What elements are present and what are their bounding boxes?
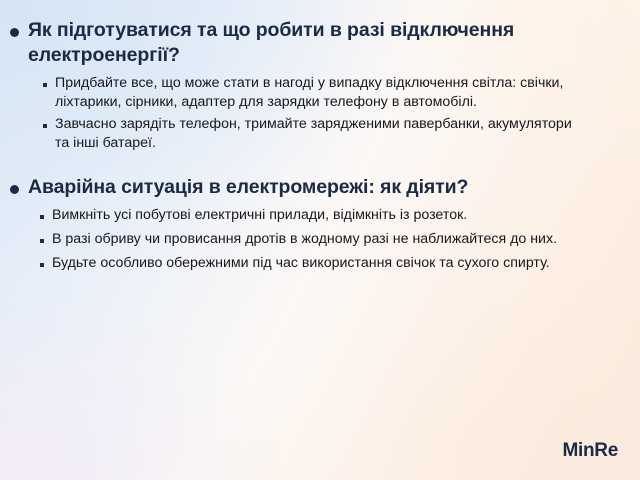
list-item-text: Придбайте все, що може стати в нагоді у …	[55, 74, 575, 112]
brand-logo: MinRe	[562, 440, 618, 462]
list-item-text: Будьте особливо обережними під час викор…	[52, 254, 550, 273]
slide-canvas: Як підготуватися та що робити в разі від…	[0, 0, 640, 480]
section-power-outage-preparation: Як підготуватися та що робити в разі від…	[10, 18, 618, 153]
list-item: Завчасно зарядіть телефон, тримайте заря…	[43, 115, 618, 153]
list-item: В разі обриву чи провисання дротів в жод…	[40, 230, 618, 249]
section-electrical-emergency: Аварійна ситуація в електромережі: як ді…	[10, 175, 618, 273]
list-item-text: Вимкніть усі побутові електричні прилади…	[52, 206, 467, 225]
list-item-text: В разі обриву чи провисання дротів в жод…	[52, 230, 557, 249]
section-title: Аварійна ситуація в електромережі: як ді…	[28, 175, 468, 200]
list-item: Придбайте все, що може стати в нагоді у …	[43, 74, 618, 112]
list-item-text: Завчасно зарядіть телефон, тримайте заря…	[55, 115, 575, 153]
bullet-list-preparation: Придбайте все, що може стати в нагоді у …	[43, 74, 618, 153]
page-title: Як підготуватися та що робити в разі від…	[28, 18, 528, 67]
square-bullet-icon	[40, 239, 44, 243]
list-item: Вимкніть усі побутові електричні прилади…	[40, 206, 618, 225]
square-bullet-icon	[43, 83, 47, 87]
square-bullet-icon	[40, 215, 44, 219]
section-heading-row: Аварійна ситуація в електромережі: як ді…	[10, 175, 618, 200]
round-bullet-icon	[10, 185, 19, 194]
bullet-list-emergency: Вимкніть усі побутові електричні прилади…	[40, 206, 618, 273]
round-bullet-icon	[10, 28, 19, 37]
square-bullet-icon	[40, 263, 44, 267]
square-bullet-icon	[43, 124, 47, 128]
section-heading-row: Як підготуватися та що робити в разі від…	[10, 18, 618, 67]
slide-content: Як підготуватися та що робити в разі від…	[0, 0, 640, 278]
list-item: Будьте особливо обережними під час викор…	[40, 254, 618, 273]
